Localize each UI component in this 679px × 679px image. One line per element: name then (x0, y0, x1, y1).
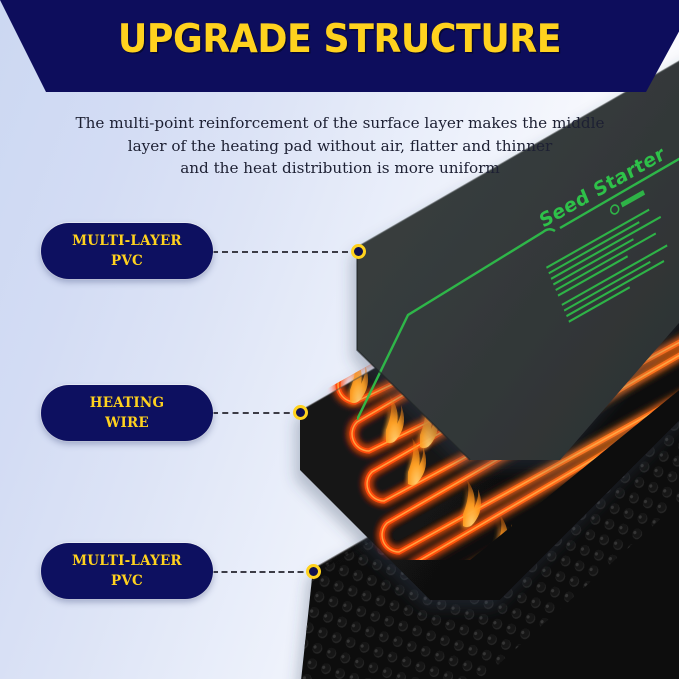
callout-top-layer-line-1: MULTI-LAYER (72, 231, 182, 251)
callout-heating-wire-line-1: HEATING (90, 393, 164, 413)
callout-top-layer[interactable]: MULTI-LAYER PVC (41, 223, 213, 279)
subtitle-line-1: The multi-point reinforcement of the sur… (55, 112, 625, 135)
leader-line-heating-wire (212, 412, 300, 414)
callout-top-layer-line-2: PVC (111, 251, 143, 271)
page-title: UPGRADE STRUCTURE (24, 17, 655, 62)
callout-heating-wire-line-2: WIRE (105, 413, 149, 433)
subtitle-line-2: layer of the heating pad without air, fl… (55, 135, 625, 158)
infographic-canvas: Seed Starter (0, 0, 679, 679)
marker-dot-bottom-layer (306, 564, 321, 579)
subtitle-block: The multi-point reinforcement of the sur… (55, 112, 625, 180)
callout-heating-wire[interactable]: HEATING WIRE (41, 385, 213, 441)
marker-dot-top-layer (351, 244, 366, 259)
callout-bottom-layer[interactable]: MULTI-LAYER PVC (41, 543, 213, 599)
marker-dot-heating-wire (293, 405, 308, 420)
subtitle-line-3: and the heat distribution is more unifor… (55, 157, 625, 180)
callout-bottom-layer-line-1: MULTI-LAYER (72, 551, 182, 571)
leader-line-top-layer (212, 251, 358, 253)
leader-line-bottom-layer (212, 571, 313, 573)
callout-bottom-layer-line-2: PVC (111, 571, 143, 591)
